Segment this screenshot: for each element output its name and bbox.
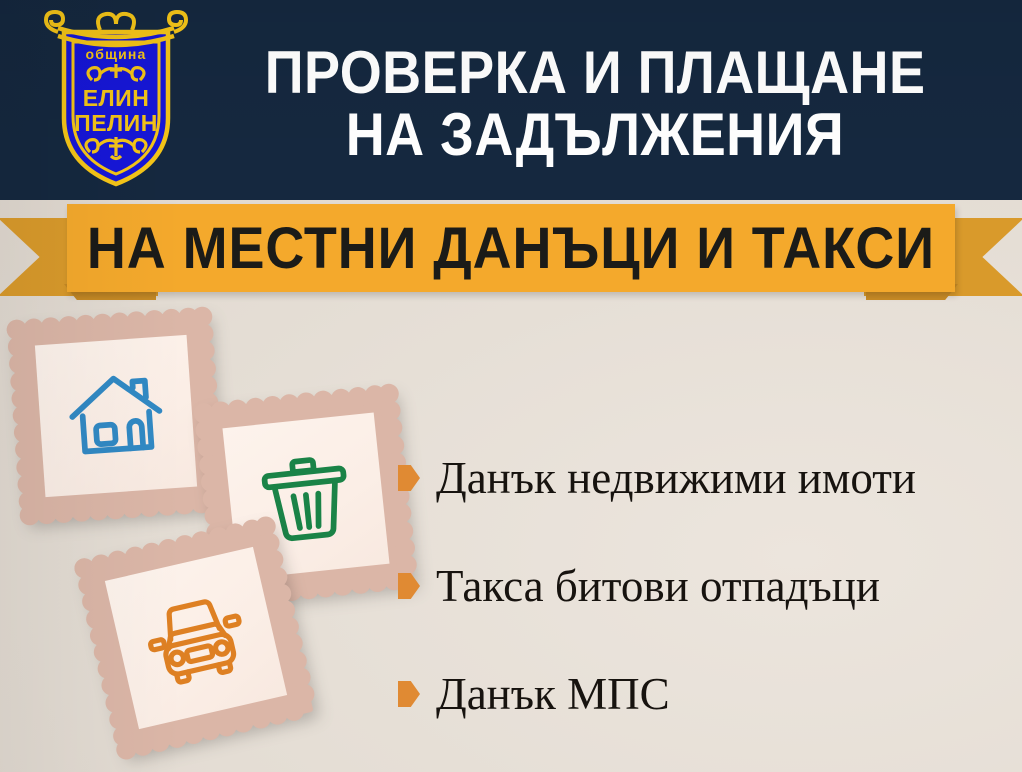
list-item-label: Данък МПС <box>436 672 670 717</box>
crest-name-line2: ПЕЛИН <box>74 110 158 136</box>
crest-top-label: община <box>85 46 146 62</box>
house-icon <box>60 360 171 471</box>
list-item[interactable]: Такса битови отпадъци <box>398 532 1010 640</box>
arrow-bullet-icon <box>398 465 420 491</box>
stamp-inner <box>35 335 197 497</box>
arrow-bullet-icon <box>398 573 420 599</box>
header-bar: община ЕЛИН ПЕЛИН ПРОВЕРКА И ПЛАЩАНЕ НА … <box>0 0 1022 200</box>
crest-name-line1: ЕЛИН <box>83 85 150 111</box>
ribbon-banner: НА МЕСТНИ ДАНЪЦИ И ТАКСИ <box>67 204 955 292</box>
car-icon <box>134 576 259 701</box>
header-title-block: ПРОВЕРКА И ПЛАЩАНЕ НА ЗАДЪЛЖЕНИЯ <box>190 16 1000 192</box>
arrow-bullet-icon <box>398 681 420 707</box>
list-item[interactable]: Данък МПС <box>398 640 1010 748</box>
subtitle-ribbon: НА МЕСТНИ ДАНЪЦИ И ТАКСИ <box>0 196 1022 306</box>
ribbon-label: НА МЕСТНИ ДАНЪЦИ И ТАКСИ <box>87 215 935 282</box>
poster-canvas: община ЕЛИН ПЕЛИН ПРОВЕРКА И ПЛАЩАНЕ НА … <box>0 0 1022 772</box>
page-title-line-1: ПРОВЕРКА И ПЛАЩАНЕ <box>265 42 926 104</box>
stamp-card-vehicle <box>78 520 313 755</box>
tax-type-list: Данък недвижими имоти Такса битови отпад… <box>398 424 1010 748</box>
page-title-line-2: НА ЗАДЪЛЖЕНИЯ <box>346 104 844 166</box>
list-item[interactable]: Данък недвижими имоти <box>398 424 1010 532</box>
municipality-crest-logo: община ЕЛИН ПЕЛИН <box>36 6 196 192</box>
list-item-label: Данък недвижими имоти <box>436 456 916 501</box>
stamp-card-property <box>11 311 220 520</box>
list-item-label: Такса битови отпадъци <box>436 564 880 609</box>
